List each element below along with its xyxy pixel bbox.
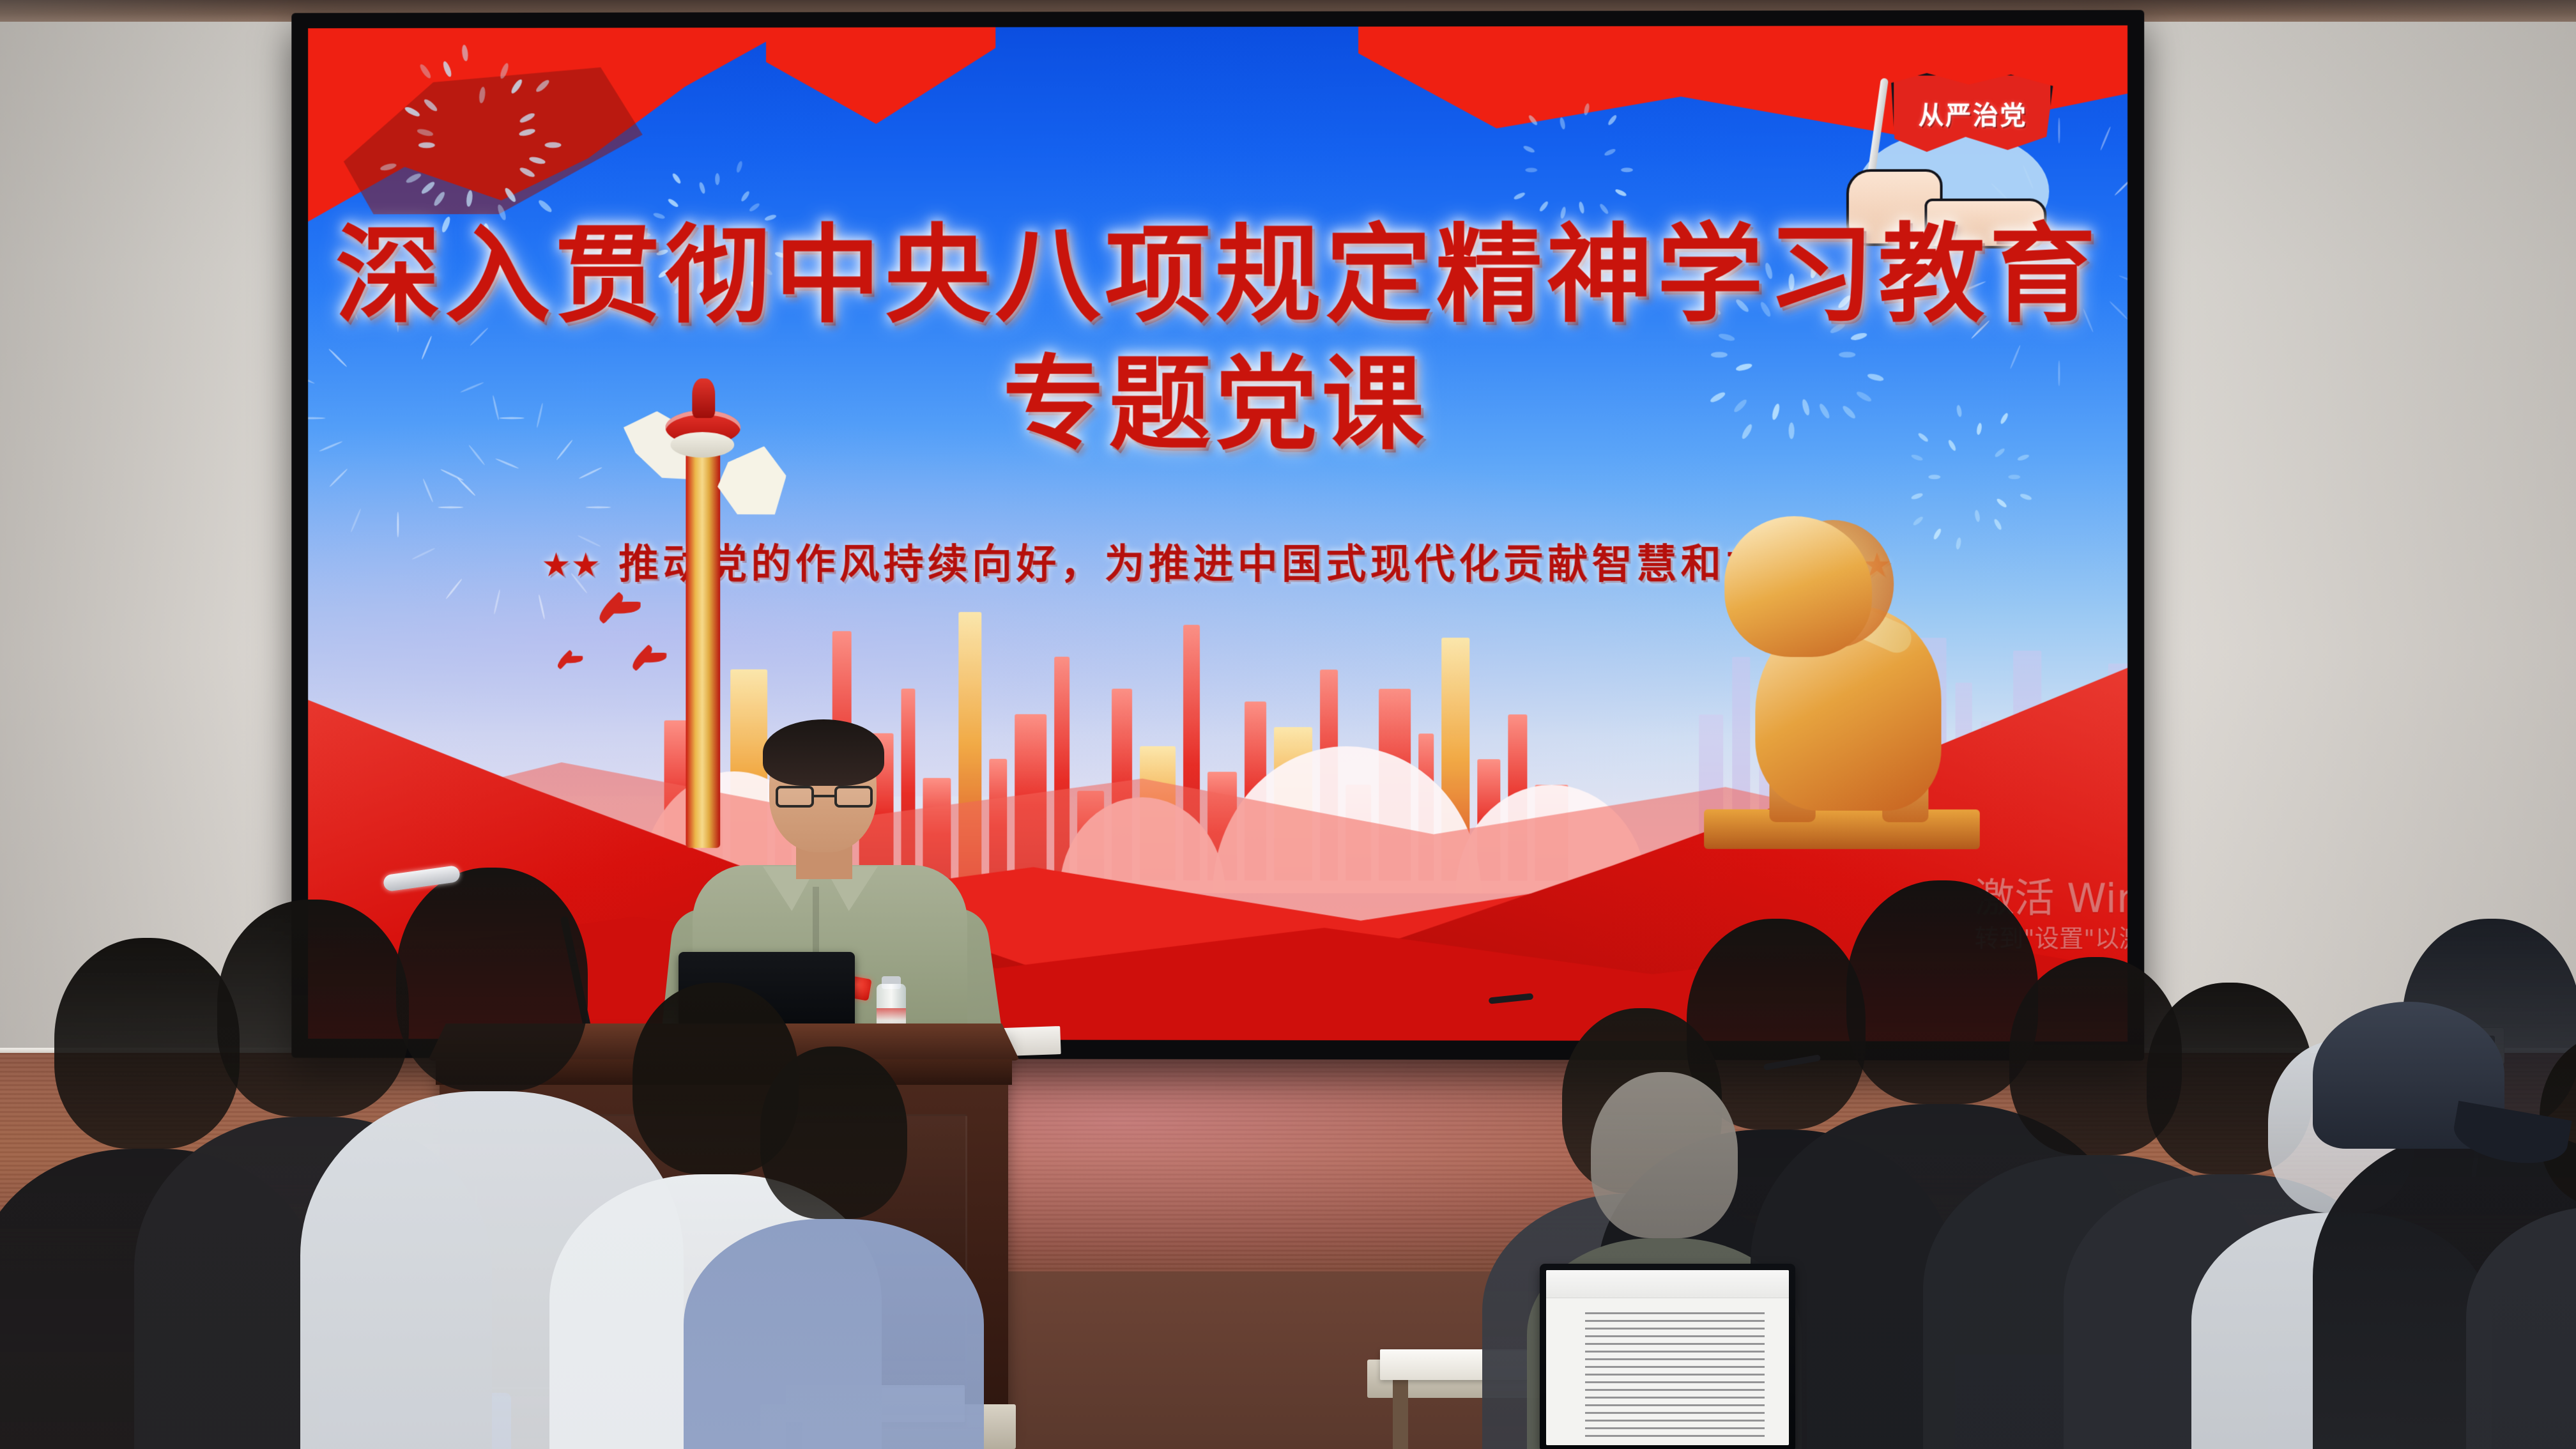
subtitle-text: 推动党的作风持续向好，为推进中国式现代化贡献智慧和力量 [618, 540, 1814, 587]
audience-member-body [684, 1219, 984, 1449]
document-toolbar [1546, 1270, 1789, 1298]
audience-member-body [2466, 1206, 2576, 1449]
laptop-screen[interactable] [1546, 1270, 1789, 1445]
audience-desk-leg [1393, 1372, 1408, 1449]
subtitle-stars-left: ★★ [541, 546, 601, 585]
slide-title-line-2: 专题党课 [308, 349, 2127, 460]
audience-member-head [760, 1046, 907, 1219]
lion-pedestal [1704, 809, 1980, 850]
document-text-lines [1585, 1312, 1765, 1438]
speaker-hair [763, 719, 884, 786]
glasses-icon [776, 786, 873, 808]
slide-title-line-1: 深入贯彻中央八项规定精神学习教育 [308, 218, 2127, 334]
huabiao-beast-top [692, 378, 715, 418]
audience-laptop[interactable] [1540, 1264, 1795, 1449]
flag-slogan-text: 从严治党 [1905, 95, 2040, 132]
slide-title-block: 深入贯彻中央八项规定精神学习教育 专题党课 [308, 218, 2127, 461]
huabiao-disc-lower [671, 432, 735, 457]
audience-member-head [1591, 1072, 1738, 1238]
audience-member [684, 1046, 984, 1449]
screenshot-stage: 从严治党 深入贯彻中央八项规定精神学习教育 专题党课 ★★ 推动党的作风持续向好… [0, 0, 2576, 1449]
guardian-lion-statue [1710, 491, 1980, 849]
